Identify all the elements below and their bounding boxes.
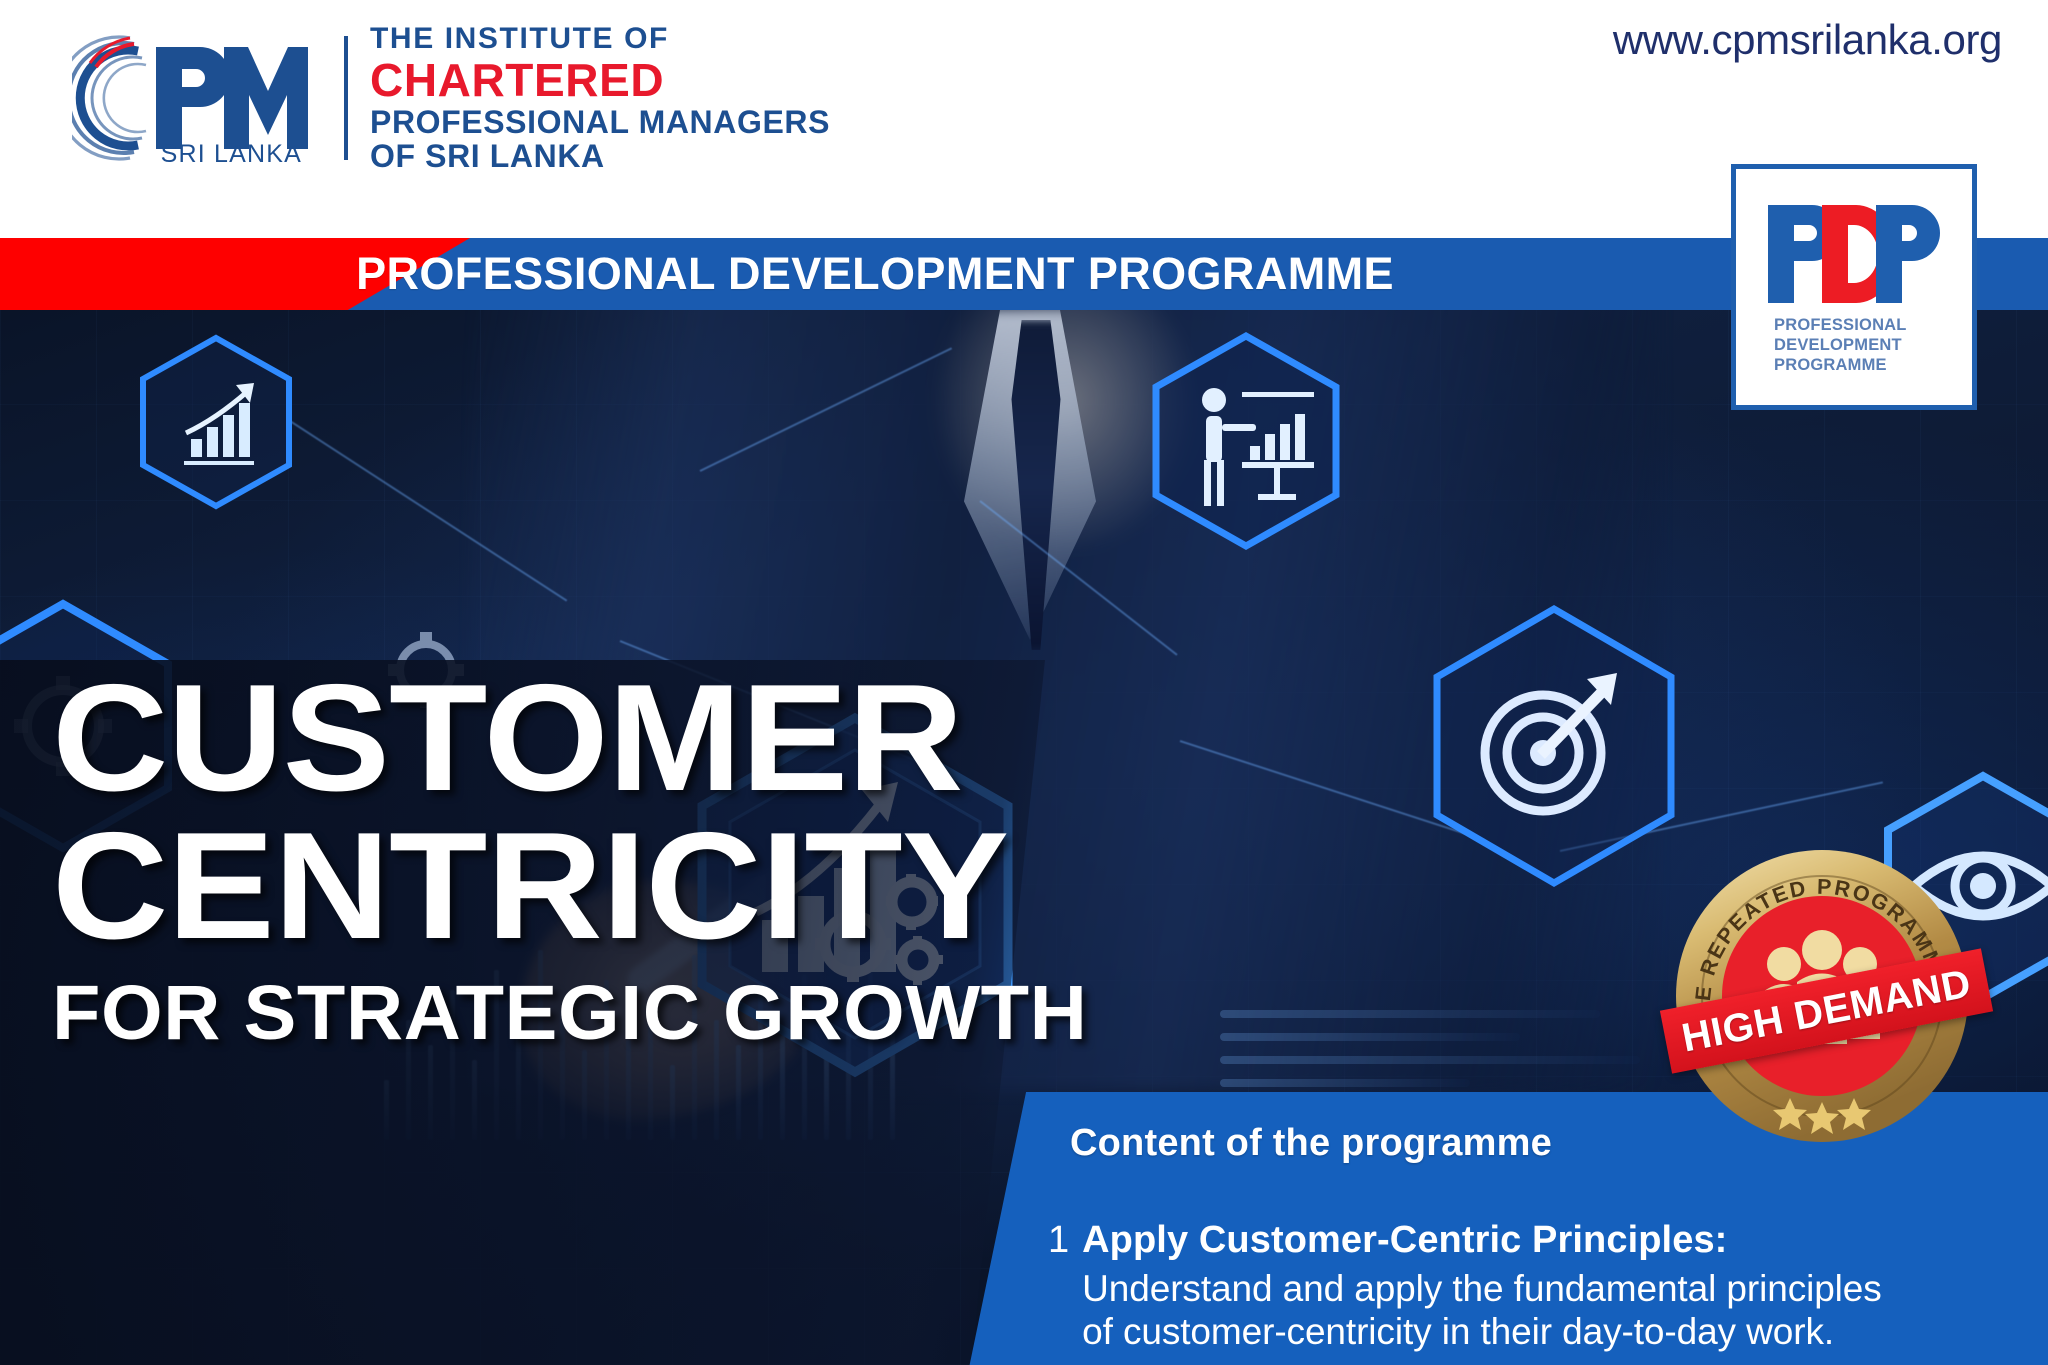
logo-srilanka-label: SRI LANKA	[161, 140, 302, 169]
presentation-person-icon	[1146, 330, 1346, 552]
pdp-sub-line-3: PROGRAMME	[1774, 355, 1934, 375]
headline-line-2: CENTRICITY	[52, 820, 1118, 954]
logo-line-2: CHARTERED	[370, 56, 830, 104]
logo-divider	[344, 36, 348, 160]
content-item-number: 1	[1048, 1218, 1069, 1262]
cpm-logomark-icon: SRI LANKA	[72, 33, 308, 163]
cpm-logo: SRI LANKA THE INSTITUTE OF CHARTERED PRO…	[72, 28, 830, 168]
content-item-desc-line-1: Understand and apply the fundamental pri…	[1082, 1267, 1882, 1311]
banner-title: PROFESSIONAL DEVELOPMENT PROGRAMME	[0, 238, 1750, 310]
pdp-logo: PROFESSIONAL DEVELOPMENT PROGRAMME	[1731, 164, 1977, 410]
content-list-item: 1 Apply Customer-Centric Principles: Und…	[1048, 1218, 2028, 1354]
flyer-canvas: SRI LANKA THE INSTITUTE OF CHARTERED PRO…	[0, 0, 2048, 1365]
content-item-desc-line-2: of customer-centricity in their day-to-d…	[1082, 1310, 1882, 1354]
pdp-sub-line-1: PROFESSIONAL	[1774, 315, 1934, 335]
page-title: CUSTOMER CENTRICITY FOR STRATEGIC GROWTH	[52, 672, 1057, 1047]
website-url[interactable]: www.cpmsrilanka.org	[1613, 16, 2002, 64]
content-item-heading: Apply Customer-Centric Principles:	[1082, 1218, 1882, 1263]
pdp-subtitle: PROFESSIONAL DEVELOPMENT PROGRAMME	[1774, 315, 1934, 375]
pdp-sub-line-2: DEVELOPMENT	[1774, 335, 1934, 355]
headline-line-1: CUSTOMER	[52, 672, 1118, 806]
hex-presentation	[1146, 330, 1346, 552]
hex-growth-chart	[136, 333, 296, 511]
logo-line-1: THE INSTITUTE OF	[370, 23, 830, 55]
content-panel-title: Content of the programme	[1070, 1122, 1552, 1165]
target-arrow-icon	[1425, 603, 1683, 889]
logo-wordmark: THE INSTITUTE OF CHARTERED PROFESSIONAL …	[370, 23, 830, 174]
growth-chart-icon	[136, 333, 296, 511]
content-item-description: Understand and apply the fundamental pri…	[1082, 1267, 1882, 1354]
headline-line-3: FOR STRATEGIC GROWTH	[52, 980, 1087, 1048]
high-demand-seal: THE REPEATED PROGRAMME ON HIGH DEMAND	[1672, 846, 1972, 1146]
hex-target	[1425, 603, 1683, 889]
pdp-letters-icon	[1764, 199, 1944, 309]
logo-line-4: OF SRI LANKA	[370, 140, 830, 174]
logo-line-3: PROFESSIONAL MANAGERS	[370, 106, 830, 140]
